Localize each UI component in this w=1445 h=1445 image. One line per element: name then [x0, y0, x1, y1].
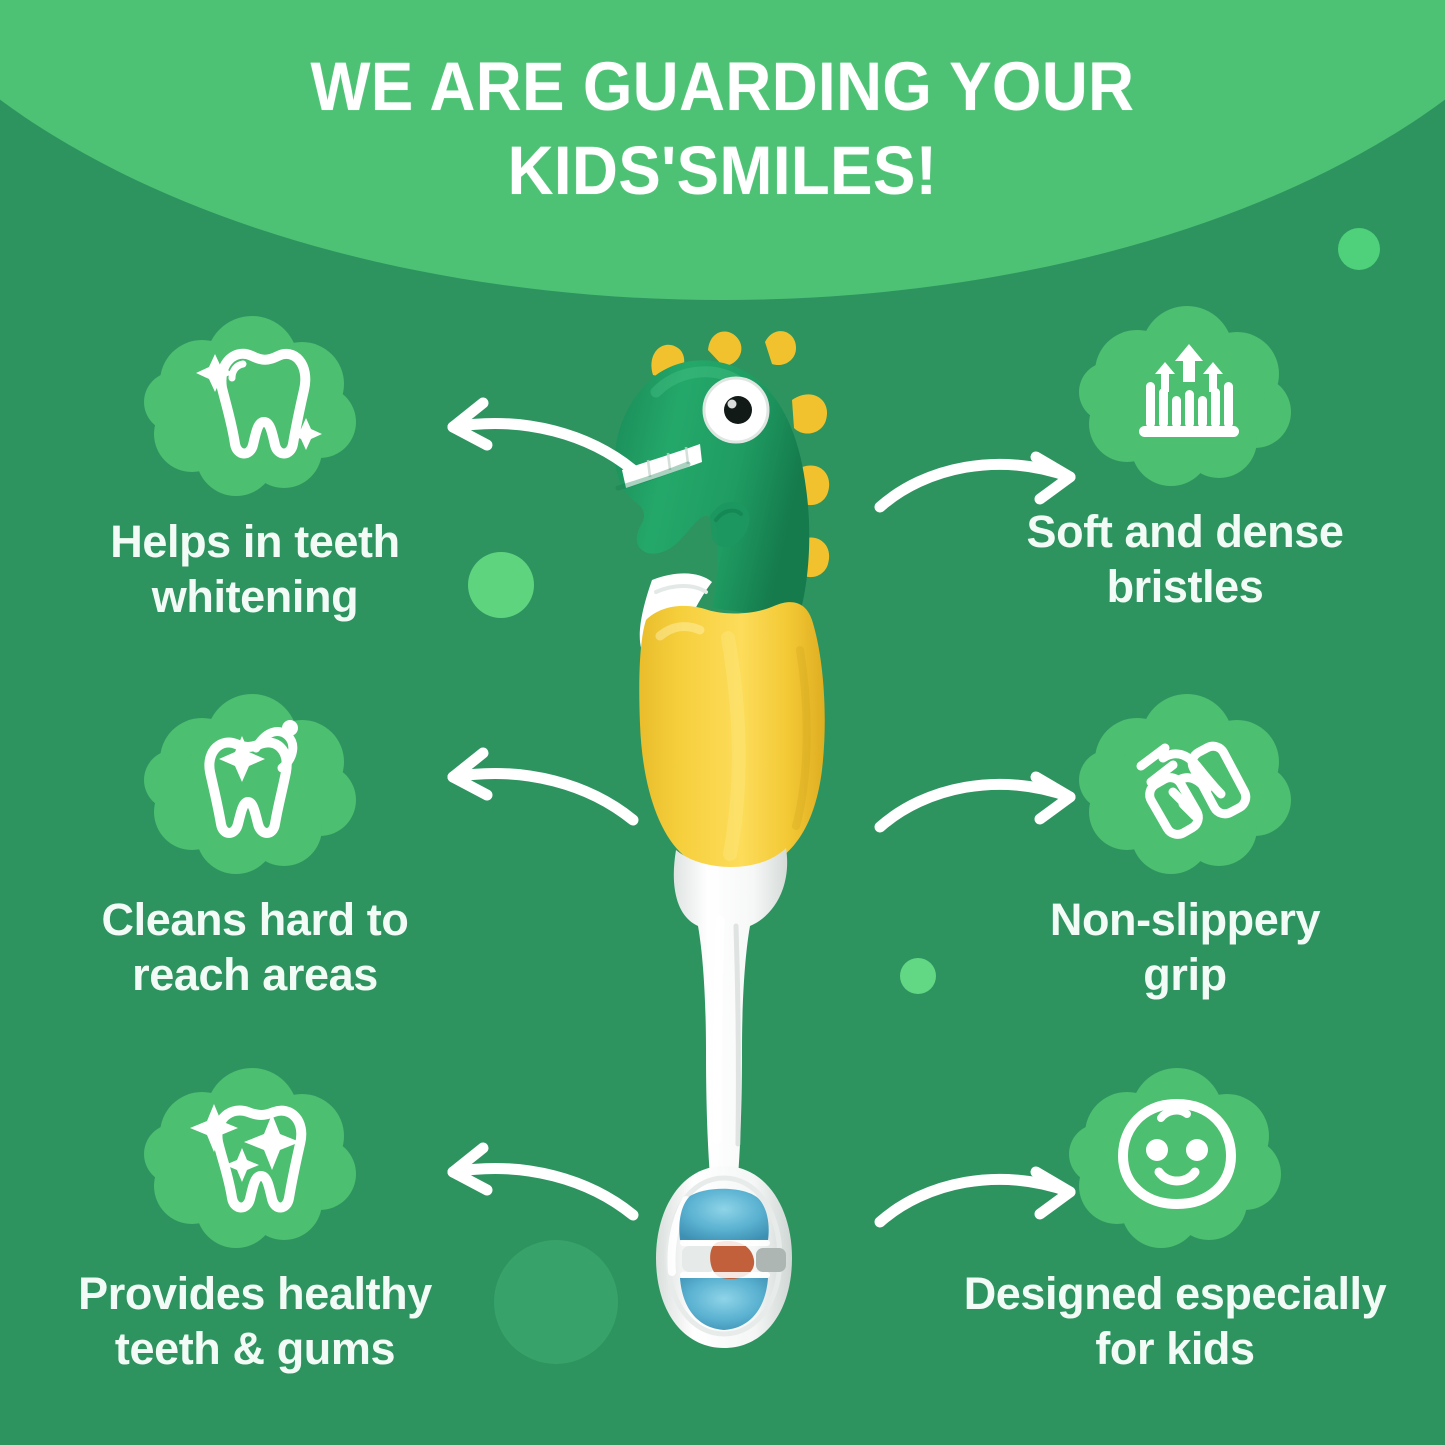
white-neck: [674, 848, 787, 1200]
dot-mid-right: [900, 958, 936, 994]
feature-label: Cleans hard to reach areas: [102, 892, 409, 1003]
tooth-cleaning-icon: [144, 688, 360, 874]
dot-mid-left: [468, 552, 534, 618]
curved-arrow-right-bottom-icon: [870, 1130, 1120, 1240]
feature-label: Helps in teeth whitening: [110, 514, 399, 625]
infographic-canvas: WE ARE GUARDING YOUR KIDS'SMILES!: [0, 0, 1445, 1445]
curved-arrow-left-bottom-icon: [395, 1120, 645, 1230]
tooth-sparkle-icon: [144, 310, 360, 496]
brush-head: [656, 1166, 792, 1348]
curved-arrow-left-middle-icon: [395, 725, 645, 835]
title-line-1: WE ARE GUARDING YOUR: [58, 45, 1387, 129]
feature-label: Provides healthy teeth & gums: [78, 1266, 432, 1377]
dot-top-right: [1338, 228, 1380, 270]
feature-label: Non-slippery grip: [1050, 892, 1320, 1003]
healthy-tooth-icon: [144, 1062, 360, 1248]
page-title: WE ARE GUARDING YOUR KIDS'SMILES!: [58, 45, 1387, 213]
curved-arrow-right-middle-icon: [870, 735, 1120, 845]
egg-body: [639, 602, 825, 873]
dino-eye: [704, 378, 768, 442]
curved-arrow-right-top-icon: [870, 415, 1120, 525]
feature-label: Designed especially for kids: [964, 1266, 1387, 1377]
title-line-2: KIDS'SMILES!: [58, 129, 1387, 213]
curved-arrow-left-top-icon: [395, 375, 645, 485]
